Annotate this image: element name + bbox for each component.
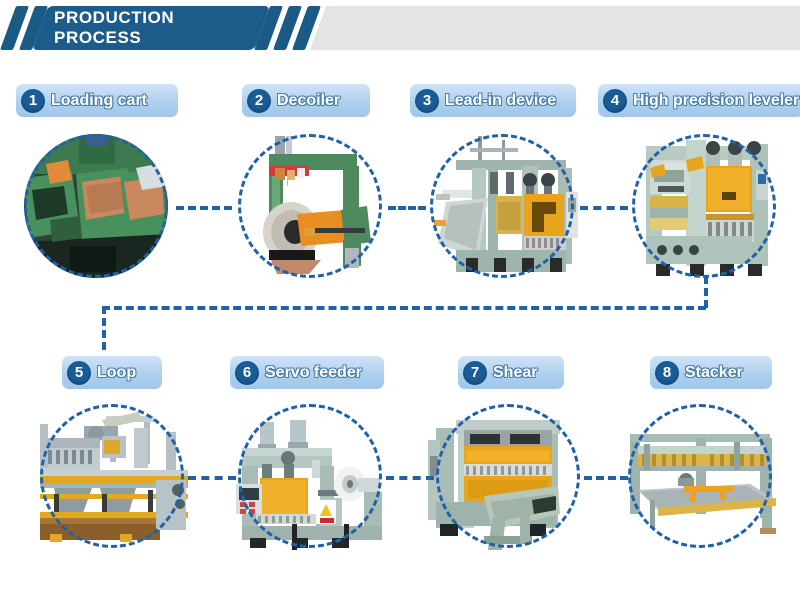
step-4-circle <box>632 134 776 278</box>
step-1-circle <box>24 134 168 278</box>
step-3-number: 3 <box>415 89 439 113</box>
step-2-badge[interactable]: 2 Decoiler <box>242 84 370 117</box>
step-3-label: Lead-in device <box>445 92 556 110</box>
connector-5-to-6 <box>188 476 236 480</box>
step-5-number: 5 <box>67 361 91 385</box>
connector-2-to-3 <box>388 206 426 210</box>
step-2-label: Decoiler <box>277 92 340 110</box>
step-2-number: 2 <box>247 89 271 113</box>
step-7-label: Shear <box>493 364 537 382</box>
step-5-badge[interactable]: 5 Loop <box>62 356 162 389</box>
step-4-number: 4 <box>603 89 627 113</box>
step-5-label: Loop <box>97 364 136 382</box>
step-6-circle <box>238 404 382 548</box>
step-1-label: Loading cart <box>51 92 147 110</box>
step-7-number: 7 <box>463 361 487 385</box>
step-1-badge[interactable]: 1 Loading cart <box>16 84 178 117</box>
step-7-badge[interactable]: 7 Shear <box>458 356 564 389</box>
step-6-number: 6 <box>235 361 259 385</box>
step-8-circle <box>628 404 772 548</box>
step-3-circle <box>430 134 574 278</box>
connector-6-to-7 <box>386 476 434 480</box>
step-8-label: Stacker <box>685 364 743 382</box>
step-4-label: High precision leveler <box>633 92 799 110</box>
step-6-label: Servo feeder <box>265 364 362 382</box>
step-6-badge[interactable]: 6 Servo feeder <box>230 356 384 389</box>
step-8-badge[interactable]: 8 Stacker <box>650 356 772 389</box>
page-title: PRODUCTION PROCESS <box>54 6 264 50</box>
step-2-circle <box>238 134 382 278</box>
step-4-badge[interactable]: 4 High precision leveler <box>598 84 800 117</box>
connector-row-drop-left <box>102 306 106 350</box>
connector-row-bridge <box>102 306 706 310</box>
connector-1-to-2 <box>176 206 232 210</box>
step-7-circle <box>436 404 580 548</box>
connector-3-to-4 <box>580 206 628 210</box>
step-3-badge[interactable]: 3 Lead-in device <box>410 84 576 117</box>
step-8-number: 8 <box>655 361 679 385</box>
header-banner: PRODUCTION PROCESS <box>0 0 800 56</box>
connector-row-drop-right <box>704 276 708 308</box>
header-gray-bar <box>310 6 800 50</box>
connector-7-to-8 <box>584 476 628 480</box>
step-1-number: 1 <box>21 89 45 113</box>
step-5-circle <box>40 404 184 548</box>
